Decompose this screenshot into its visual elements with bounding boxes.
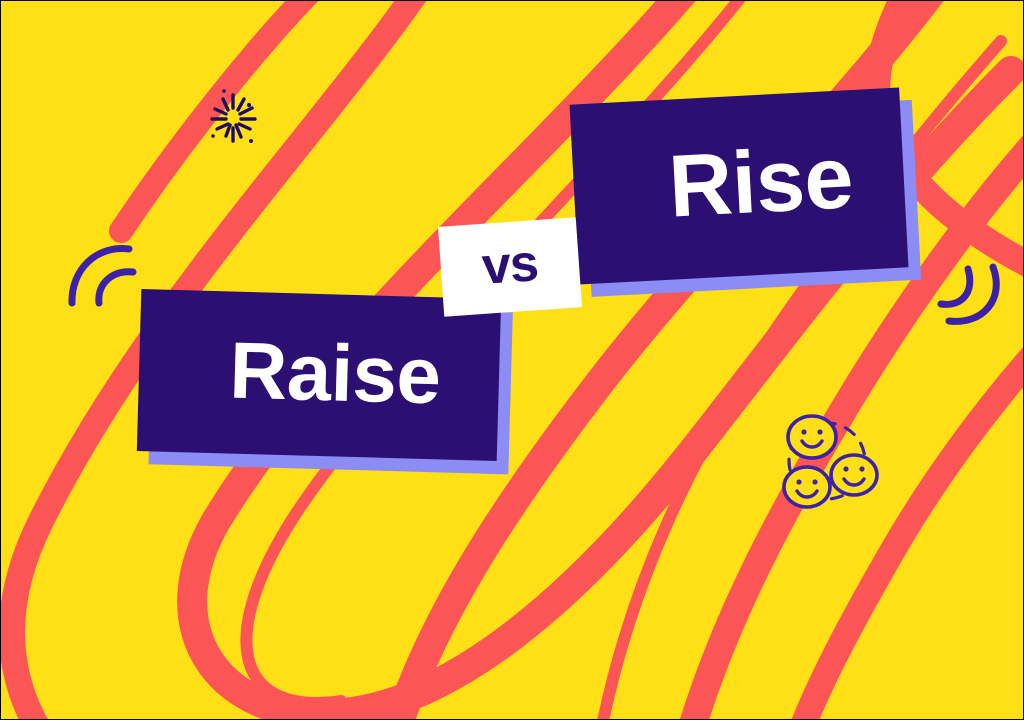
- rise-card[interactable]: Rise: [570, 87, 909, 284]
- smiley-face-right: [831, 455, 877, 495]
- raise-card-label: Raise: [228, 331, 441, 417]
- signal-arcs-left-icon: [63, 239, 139, 309]
- poster-canvas: Raise Rise vs: [0, 0, 1024, 720]
- vs-badge-label: vs: [480, 237, 539, 293]
- signal-arcs-right-icon: [935, 259, 1011, 331]
- vs-badge: vs: [438, 217, 582, 316]
- rise-card-label: Rise: [667, 133, 855, 231]
- smiley-face-top: [788, 416, 836, 458]
- rise-card-face: Rise: [570, 87, 909, 284]
- smiley-faces-cluster-icon: [769, 405, 885, 515]
- smiley-face-bottom-left: [784, 467, 830, 507]
- sparkle-burst-icon: [197, 81, 269, 151]
